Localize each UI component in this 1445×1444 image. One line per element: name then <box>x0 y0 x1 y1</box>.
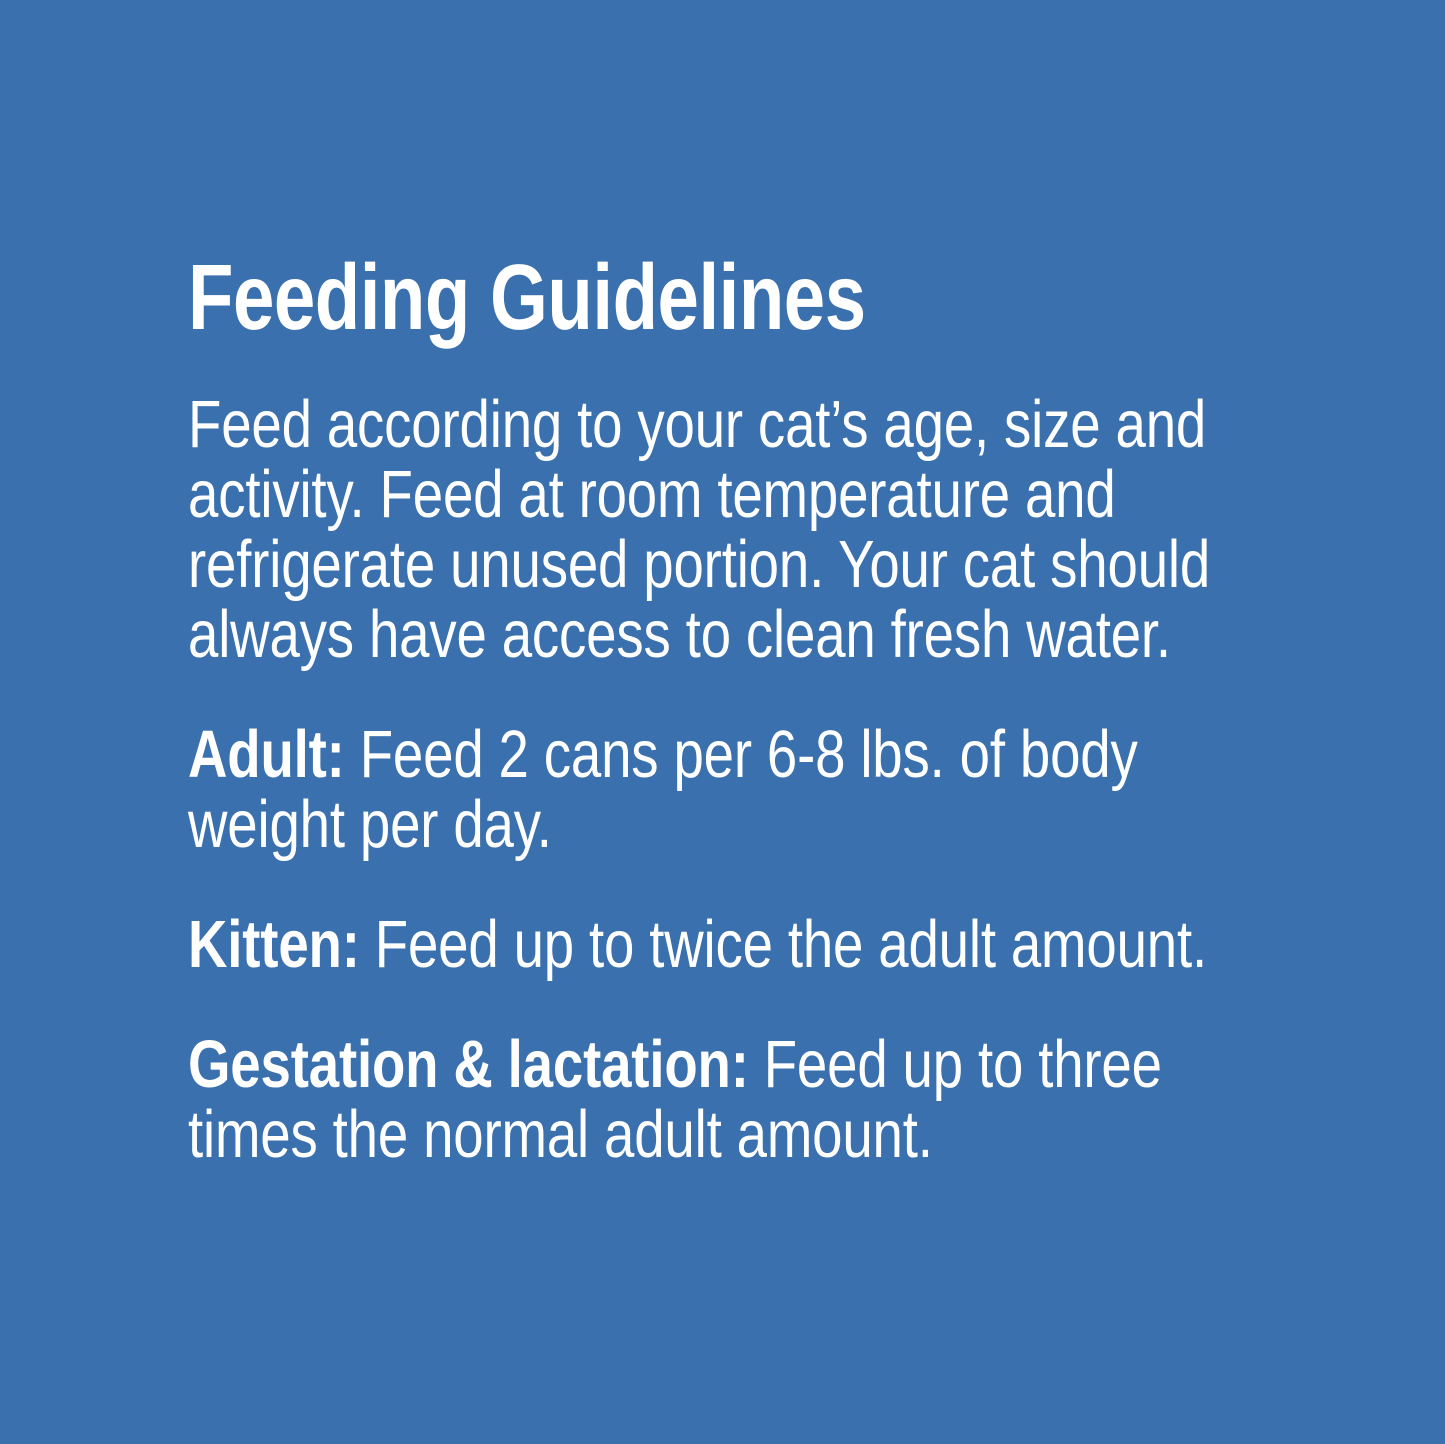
feeding-guidelines-panel: Feeding Guidelines Feed according to you… <box>0 0 1445 1444</box>
page-title: Feeding Guidelines <box>188 248 1076 346</box>
kitten-text: Feed up to twice the adult amount. <box>360 907 1207 982</box>
kitten-feeding-paragraph: Kitten: Feed up to twice the adult amoun… <box>188 910 1298 980</box>
gestation-lactation-label: Gestation & lactation: <box>188 1027 749 1102</box>
content-column: Feeding Guidelines Feed according to you… <box>188 248 1298 1170</box>
adult-feeding-paragraph: Adult: Feed 2 cans per 6-8 lbs. of body … <box>188 720 1298 860</box>
adult-label: Adult: <box>188 717 345 792</box>
kitten-label: Kitten: <box>188 907 360 982</box>
intro-paragraph: Feed according to your cat’s age, size a… <box>188 390 1298 670</box>
gestation-lactation-paragraph: Gestation & lactation: Feed up to three … <box>188 1030 1298 1170</box>
